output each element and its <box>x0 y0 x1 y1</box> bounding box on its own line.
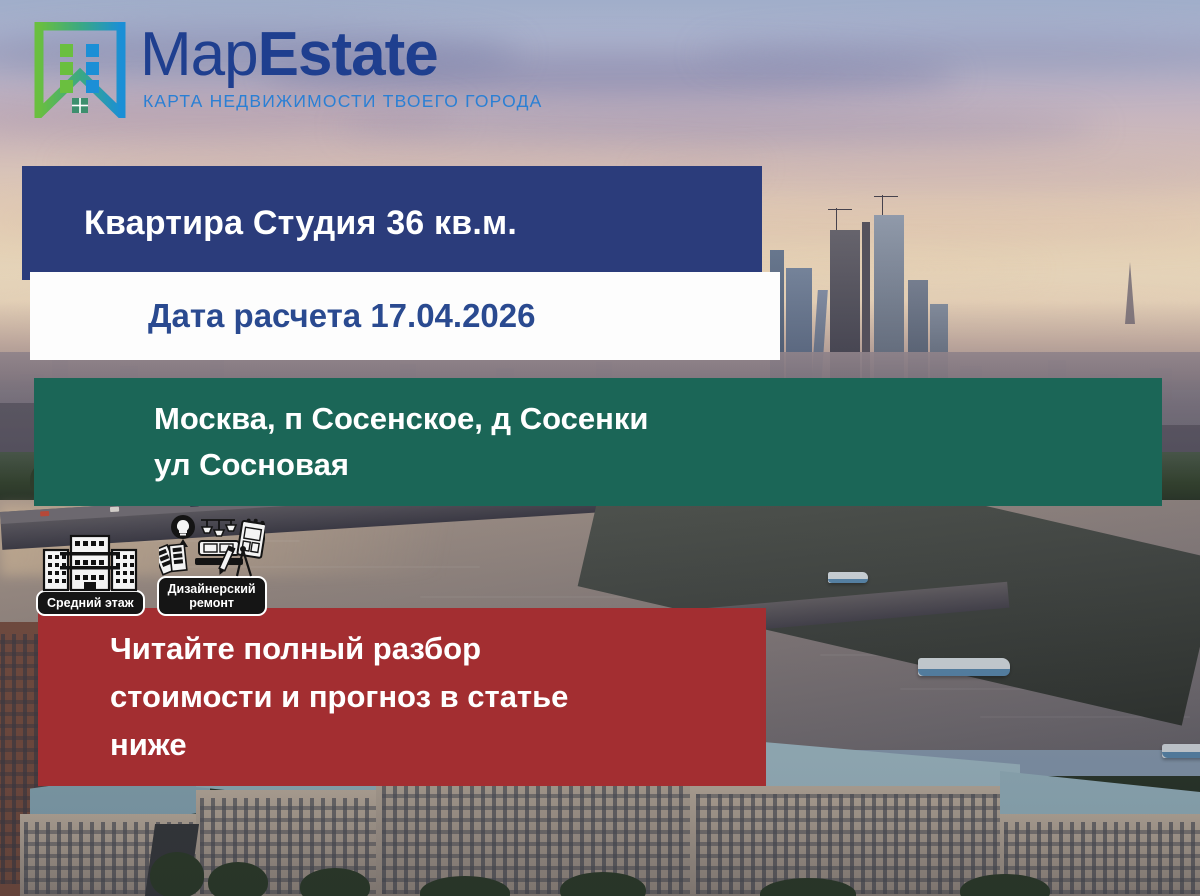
property-title-text: Квартира Студия 36 кв.м. <box>22 204 517 243</box>
address-banner: Москва, п Сосенское, д Сосенки ул Соснов… <box>34 378 1162 506</box>
address-line-2: ул Сосновая <box>154 442 648 488</box>
brand-name: MapEstate <box>140 24 543 86</box>
calculation-date-text: Дата расчета 17.04.2026 <box>30 297 535 335</box>
promo-poster: MapEstate КАРТА НЕДВИЖИМОСТИ ТВОЕГО ГОРО… <box>0 0 1200 896</box>
bookmark-building-icon <box>34 22 126 118</box>
apartment-buildings-icon <box>38 530 142 594</box>
badge-designer-renovation[interactable]: Дизайнерский ремонт <box>157 514 267 616</box>
badge-designer-renovation-label: Дизайнерский ремонт <box>157 576 267 616</box>
feature-badges: Средний этаж <box>36 514 267 616</box>
interior-design-tools-icon <box>159 514 265 580</box>
brand-logo[interactable]: MapEstate КАРТА НЕДВИЖИМОСТИ ТВОЕГО ГОРО… <box>34 22 543 118</box>
cta-banner: Читайте полный разбор стоимости и прогно… <box>38 608 766 786</box>
calculation-date-banner: Дата расчета 17.04.2026 <box>30 272 780 360</box>
cta-line-2: стоимости и прогноз в статье <box>110 673 568 721</box>
badge-middle-floor[interactable]: Средний этаж <box>36 530 145 616</box>
brand-tagline: КАРТА НЕДВИЖИМОСТИ ТВОЕГО ГОРОДА <box>143 91 543 112</box>
cta-line-1: Читайте полный разбор <box>110 625 568 673</box>
cta-text: Читайте полный разбор стоимости и прогно… <box>38 625 568 769</box>
brand-name-map: Map <box>140 20 258 89</box>
property-title-banner: Квартира Студия 36 кв.м. <box>22 166 762 280</box>
address-text: Москва, п Сосенское, д Сосенки ул Соснов… <box>34 396 648 488</box>
cta-line-3: ниже <box>110 721 568 769</box>
address-line-1: Москва, п Сосенское, д Сосенки <box>154 396 648 442</box>
brand-name-estate: Estate <box>258 20 438 89</box>
